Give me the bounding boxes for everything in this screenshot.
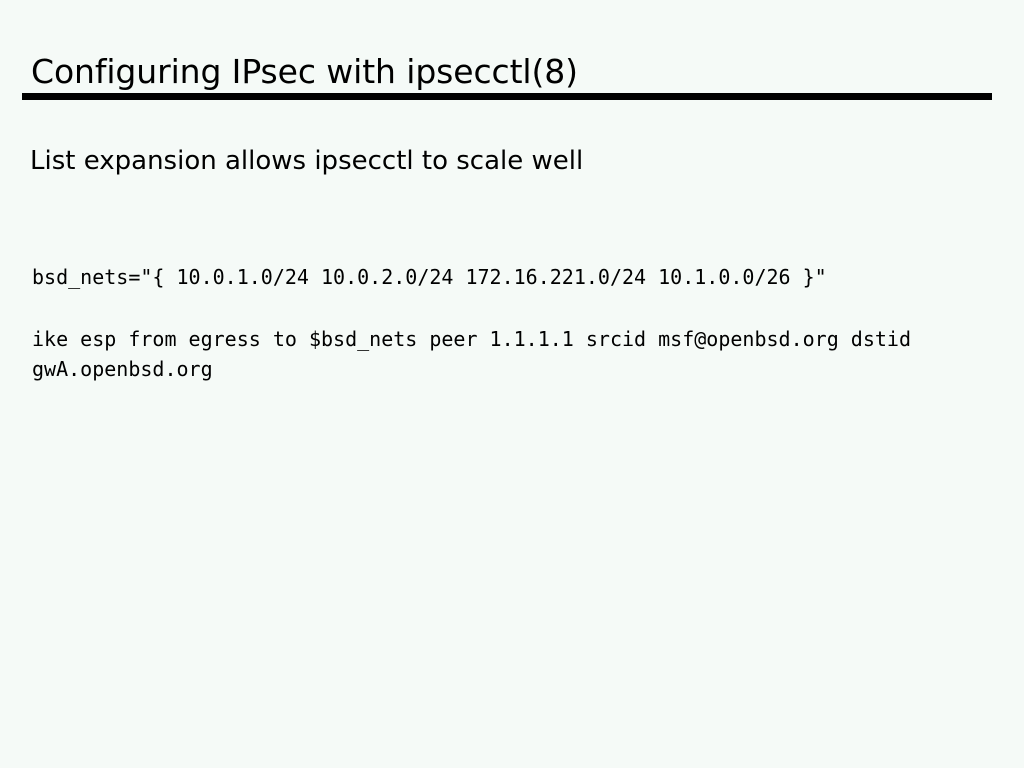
code-sample: bsd_nets="{ 10.0.1.0/24 10.0.2.0/24 172.… — [32, 262, 992, 384]
code-line-macro-definition: bsd_nets="{ 10.0.1.0/24 10.0.2.0/24 172.… — [32, 262, 992, 292]
presentation-slide: Configuring IPsec with ipsecctl(8) List … — [0, 0, 1024, 768]
code-blank-line — [32, 292, 992, 324]
code-line-ike-rule: ike esp from egress to $bsd_nets peer 1.… — [32, 324, 922, 384]
slide-body: List expansion allows ipsecctl to scale … — [0, 0, 1024, 768]
bullet-text: List expansion allows ipsecctl to scale … — [30, 143, 583, 179]
